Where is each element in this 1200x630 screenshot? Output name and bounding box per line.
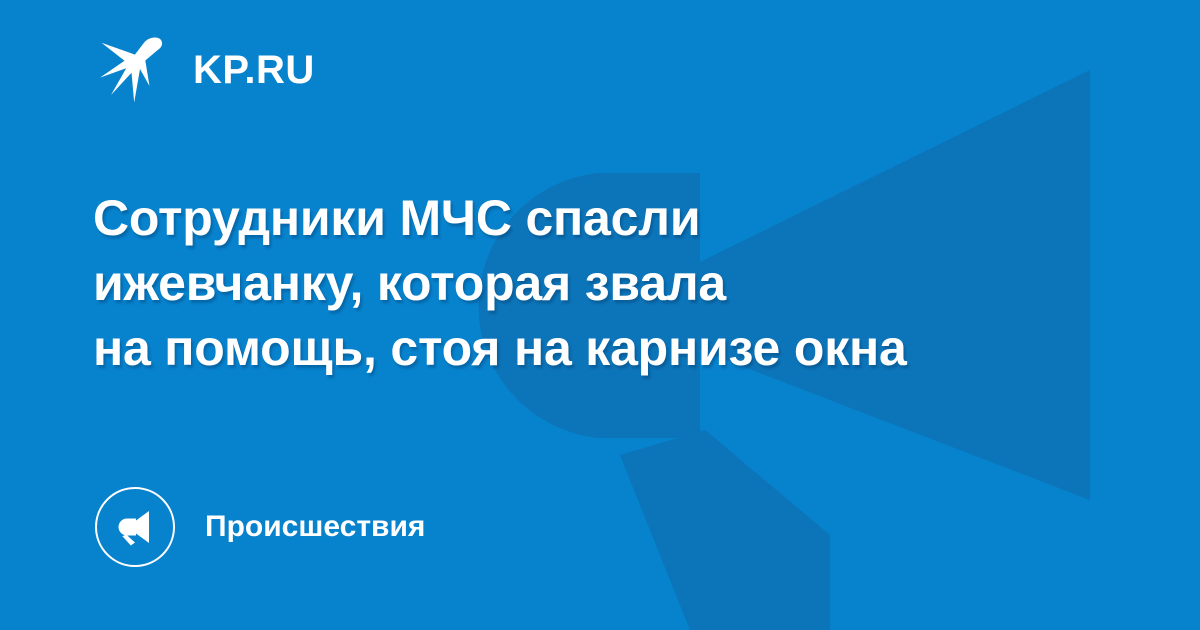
headline-line-2: ижевчанку, которая звала [93, 251, 1123, 316]
category-icon-circle [95, 487, 175, 567]
brand-name: KP.RU [193, 50, 315, 90]
brand-logo-row[interactable]: KP.RU [93, 33, 315, 107]
headline-line-3: на помощь, стоя на карнизе окна [93, 316, 1123, 381]
swallow-bird-logo-icon [93, 33, 171, 107]
page-title: Сотрудники МЧС спасли ижевчанку, которая… [93, 186, 1123, 381]
share-card: KP.RU Сотрудники МЧС спасли ижевчанку, к… [0, 0, 1200, 630]
megaphone-icon [113, 505, 157, 549]
category-label: Происшествия [205, 512, 425, 542]
category-badge[interactable]: Происшествия [95, 486, 425, 568]
headline-line-1: Сотрудники МЧС спасли [93, 186, 1123, 251]
